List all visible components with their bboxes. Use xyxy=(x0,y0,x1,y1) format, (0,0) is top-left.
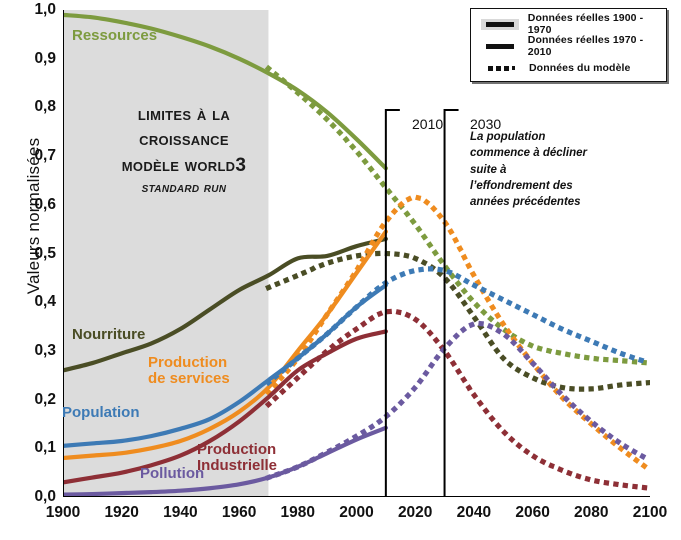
x-tick-1: 1920 xyxy=(92,504,152,522)
x-tick-10: 2100 xyxy=(620,504,680,522)
y-tick-5: 0,5 xyxy=(16,245,56,263)
legend-item-model: Données du modèle xyxy=(471,57,666,79)
model-line xyxy=(268,311,650,488)
y-tick-1: 0,1 xyxy=(16,439,56,457)
series-label-population: Population xyxy=(62,405,140,421)
chart-root: Valeurs normalisées 0,00,10,20,30,40,50,… xyxy=(0,0,681,540)
series-label-production-de-services: Productionde services xyxy=(148,355,230,387)
x-axis-tick-labels: 1900192019401960198020002020204020602080… xyxy=(63,504,650,528)
x-tick-7: 2040 xyxy=(444,504,504,522)
x-tick-8: 2060 xyxy=(503,504,563,522)
marker-line-2030 xyxy=(445,110,459,497)
x-tick-0: 1900 xyxy=(33,504,93,522)
legend-item-observed-1900-1970: Données réelles 1900 - 1970 xyxy=(471,13,666,35)
legend-label-2: Données du modèle xyxy=(529,62,630,74)
series-label-ressources: Ressources xyxy=(72,28,157,44)
y-tick-2: 0,2 xyxy=(16,391,56,409)
x-tick-5: 2000 xyxy=(327,504,387,522)
marker-annotation-2030: La population commence à décliner suite … xyxy=(470,129,588,211)
title-line-3: Modèle World3 xyxy=(86,153,282,178)
legend-item-observed-1970-2010: Données réelles 1970 - 2010 xyxy=(471,35,666,57)
marker-label-2010: 2010 xyxy=(412,116,443,132)
chart-title-block: Limites à la croissance Modèle World3 St… xyxy=(86,102,282,198)
x-tick-9: 2080 xyxy=(561,504,621,522)
series-label-nourriture: Nourriture xyxy=(72,327,145,343)
plot-area xyxy=(63,10,650,497)
legend-swatch-solid-line-icon xyxy=(479,44,522,49)
legend-label-0: Données réelles 1900 - 1970 xyxy=(528,12,666,36)
x-tick-2: 1940 xyxy=(150,504,210,522)
legend: Données réelles 1900 - 1970 Données réel… xyxy=(470,8,667,82)
x-tick-4: 1980 xyxy=(268,504,328,522)
series-label-pollution: Pollution xyxy=(140,466,204,482)
x-tick-6: 2020 xyxy=(385,504,445,522)
legend-swatch-gray-band-icon xyxy=(479,19,522,30)
legend-swatch-dotted-line-icon xyxy=(479,66,523,71)
x-tick-3: 1960 xyxy=(209,504,269,522)
y-tick-6: 0,6 xyxy=(16,196,56,214)
legend-label-1: Données réelles 1970 - 2010 xyxy=(528,34,666,58)
title-line-2: croissance xyxy=(86,127,282,152)
y-tick-3: 0,3 xyxy=(16,342,56,360)
y-tick-4: 0,4 xyxy=(16,293,56,311)
y-tick-9: 0,9 xyxy=(16,50,56,68)
y-axis-tick-labels: 0,00,10,20,30,40,50,60,70,80,91,0 xyxy=(8,10,56,497)
title-line-1: Limites à la xyxy=(86,102,282,127)
y-tick-8: 0,8 xyxy=(16,98,56,116)
chart-svg xyxy=(63,10,650,497)
series-label-production-industrielle: ProductionIndustrielle xyxy=(197,442,277,474)
marker-line-2010 xyxy=(386,110,400,497)
y-tick-7: 0,7 xyxy=(16,147,56,165)
title-line-4: Standard Run xyxy=(86,179,282,198)
y-tick-10: 1,0 xyxy=(16,1,56,19)
